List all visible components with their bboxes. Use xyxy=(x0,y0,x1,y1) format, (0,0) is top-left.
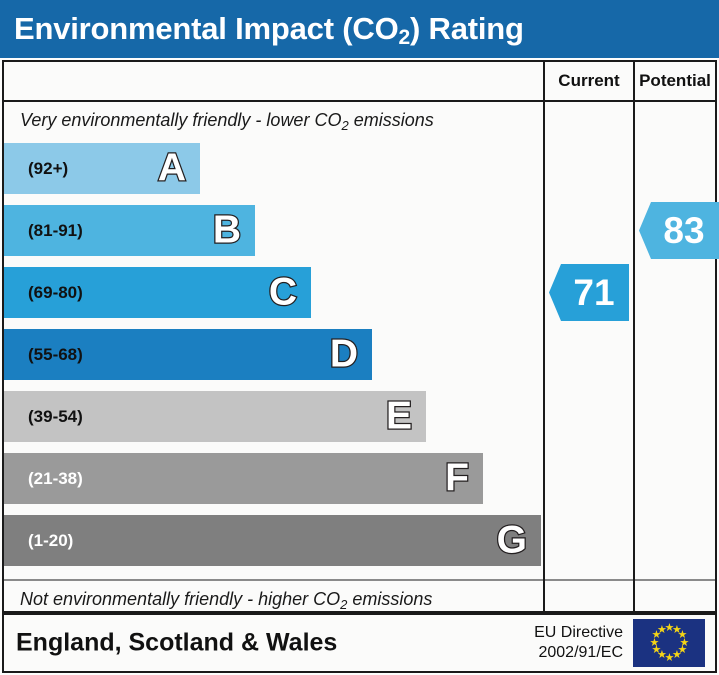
column-header-current: Current xyxy=(545,62,633,100)
band-letter-b: B xyxy=(213,210,241,249)
column-divider-current xyxy=(543,62,545,613)
rating-value-current: 71 xyxy=(563,274,614,311)
rating-marker-potential: 83 xyxy=(639,202,719,259)
page-title: Environmental Impact (CO2) Rating xyxy=(14,11,524,47)
band-range-b: (81-91) xyxy=(28,221,83,241)
caption-top: Very environmentally friendly - lower CO… xyxy=(20,110,434,131)
caption-bottom-prefix: Not environmentally friendly - higher CO xyxy=(20,589,340,609)
caption-top-prefix: Very environmentally friendly - lower CO xyxy=(20,110,341,130)
footer-bar: England, Scotland & Wales EU Directive 2… xyxy=(2,613,717,673)
rating-value-potential: 83 xyxy=(653,212,704,249)
band-letter-d: D xyxy=(330,334,358,373)
footer-directive-line2: 2002/91/EC xyxy=(534,643,623,663)
rating-band-d: (55-68)D xyxy=(4,329,372,380)
footer-directive: EU Directive 2002/91/EC xyxy=(534,623,623,663)
page-title-subscript: 2 xyxy=(399,26,410,49)
caption-top-suffix: emissions xyxy=(349,110,434,130)
caption-bottom-subscript: 2 xyxy=(340,597,347,612)
band-letter-e: E xyxy=(386,396,412,435)
caption-bottom-suffix: emissions xyxy=(347,589,432,609)
band-range-g: (1-20) xyxy=(28,531,73,551)
column-divider-potential xyxy=(633,62,635,613)
band-range-f: (21-38) xyxy=(28,469,83,489)
title-bar: Environmental Impact (CO2) Rating xyxy=(0,0,719,58)
column-header-potential: Potential xyxy=(635,62,715,100)
rating-bands: (92+)A(81-91)B(69-80)C(55-68)D(39-54)E(2… xyxy=(4,143,543,577)
rating-band-a: (92+)A xyxy=(4,143,200,194)
eu-flag-icon: ★★★★★★★★★★★★ xyxy=(633,619,705,667)
eu-flag-star: ★ xyxy=(657,626,666,635)
footer-region-label: England, Scotland & Wales xyxy=(16,629,337,658)
caption-top-subscript: 2 xyxy=(341,118,348,133)
band-range-d: (55-68) xyxy=(28,345,83,365)
page-title-prefix: Environmental Impact (CO xyxy=(14,11,399,46)
rating-band-c: (69-80)C xyxy=(4,267,311,318)
header-divider xyxy=(4,100,715,102)
footer-directive-line1: EU Directive xyxy=(534,623,623,643)
rating-band-b: (81-91)B xyxy=(4,205,255,256)
band-letter-a: A xyxy=(158,148,186,187)
rating-band-g: (1-20)G xyxy=(4,515,541,566)
band-letter-g: G xyxy=(497,520,527,559)
band-letter-f: F xyxy=(445,458,469,497)
band-range-c: (69-80) xyxy=(28,283,83,303)
rating-band-f: (21-38)F xyxy=(4,453,483,504)
band-range-e: (39-54) xyxy=(28,407,83,427)
rating-marker-current: 71 xyxy=(549,264,629,321)
page-title-suffix: ) Rating xyxy=(410,11,524,46)
caption-bottom: Not environmentally friendly - higher CO… xyxy=(20,589,432,610)
bottom-caption-divider xyxy=(4,579,715,581)
band-range-a: (92+) xyxy=(28,159,68,179)
rating-band-e: (39-54)E xyxy=(4,391,426,442)
ratings-table: Current Potential Very environmentally f… xyxy=(2,60,717,613)
epc-environmental-impact-chart: Environmental Impact (CO2) Rating Curren… xyxy=(0,0,719,675)
band-letter-c: C xyxy=(269,272,297,311)
